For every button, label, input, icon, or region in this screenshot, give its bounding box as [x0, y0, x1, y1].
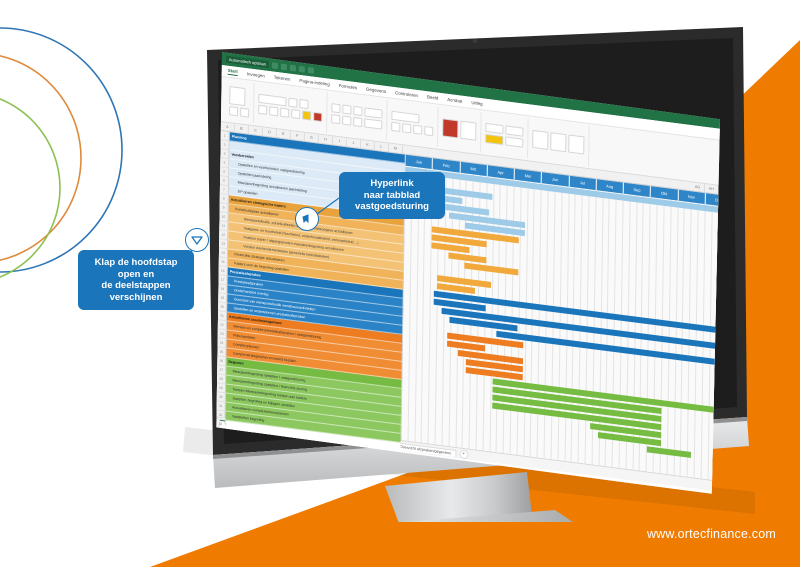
gantt-bar[interactable]: [647, 446, 691, 458]
ribbon-tab-acrobat[interactable]: Acrobat: [447, 97, 462, 104]
align-right-icon[interactable]: [353, 117, 362, 127]
callout-line: Klap de hoofdstap: [84, 257, 188, 269]
circle-orange: [0, 53, 81, 263]
gantt-bars-layer: [402, 166, 720, 482]
insert-cells-icon[interactable]: [532, 130, 548, 150]
monitor-screen: Automatisch opslaan StartInvoegenTekenen…: [214, 52, 720, 494]
format-cells-icon[interactable]: [568, 134, 584, 154]
ribbon-group-cellstyles: [481, 112, 529, 158]
percent-icon[interactable]: [402, 123, 411, 133]
excel-window: Automatisch opslaan StartInvoegenTekenen…: [216, 52, 720, 494]
style-waarschuwing[interactable]: [485, 134, 503, 145]
poster-canvas: Automatisch opslaan StartInvoegenTekenen…: [0, 0, 800, 567]
ribbon-group-clipboard: [225, 80, 255, 124]
conditional-format-icon[interactable]: [442, 118, 458, 138]
ribbon-group-alignment: [327, 93, 388, 141]
cursor-glyph: [301, 213, 313, 225]
ribbon-tab-tekenen[interactable]: Tekenen: [274, 75, 291, 82]
website-url[interactable]: www.ortecfinance.com: [647, 527, 776, 541]
callout-line: vastgoedsturing: [344, 201, 440, 213]
currency-icon[interactable]: [391, 122, 400, 132]
callout-line: Hyperlink: [344, 178, 440, 190]
merge-center-button[interactable]: [364, 118, 382, 129]
align-middle-icon[interactable]: [342, 105, 351, 115]
callout-hyperlink[interactable]: Hyperlink naar tabblad vastgoedsturing: [339, 172, 445, 219]
ribbon-tab-controleren[interactable]: Controleren: [395, 90, 418, 98]
font-size-box[interactable]: [288, 98, 297, 108]
callout-hoofdstap[interactable]: Klap de hoofdstap open en de deelstappen…: [78, 250, 194, 310]
arrow-marker-icon[interactable]: [185, 228, 209, 252]
task-label: JIP opstellen: [231, 189, 258, 196]
more-icon[interactable]: [308, 67, 314, 74]
cut-icon[interactable]: [229, 106, 238, 116]
save-icon[interactable]: [272, 62, 278, 69]
align-center-icon[interactable]: [342, 116, 351, 126]
ribbon-tab-start[interactable]: Start: [228, 68, 238, 76]
ribbon-group-cells: [528, 118, 590, 166]
style-goed[interactable]: [505, 136, 523, 147]
circle-blue: [0, 28, 122, 272]
gantt-bar[interactable]: [464, 262, 519, 275]
underline-icon[interactable]: [280, 108, 289, 118]
comma-icon[interactable]: [413, 125, 422, 135]
ribbon-group-font: [254, 83, 328, 132]
task-label: Prijsvaardelen: [229, 333, 256, 340]
callout-line: de deelstappen: [84, 280, 188, 292]
gantt-chart-area: JanFebMrtAprMeiJunJulAugSepOktNovDec: [402, 155, 720, 482]
touch-icon[interactable]: [299, 65, 305, 72]
delete-cells-icon[interactable]: [550, 132, 566, 152]
gantt-bar[interactable]: [448, 252, 486, 263]
font-color-icon[interactable]: [313, 112, 322, 122]
gantt-bar[interactable]: [496, 331, 720, 366]
ribbon-group-styles: [438, 107, 482, 153]
callout-line: naar tabblad: [344, 190, 440, 202]
style-standaard[interactable]: [505, 125, 523, 136]
ribbon-tab-beeld[interactable]: Beeld: [427, 94, 438, 100]
redo-icon[interactable]: [290, 64, 296, 71]
paste-icon[interactable]: [229, 86, 245, 106]
ribbon-tab-gegevens[interactable]: Gegevens: [366, 86, 386, 94]
bold-icon[interactable]: [258, 105, 267, 115]
increase-font-icon[interactable]: [299, 99, 308, 109]
style-neutraal[interactable]: [485, 123, 503, 134]
align-left-icon[interactable]: [331, 114, 340, 124]
borders-icon[interactable]: [291, 109, 300, 119]
fill-color-icon[interactable]: [302, 110, 311, 120]
ribbon-group-number: [387, 100, 439, 147]
undo-icon[interactable]: [281, 63, 287, 70]
italic-icon[interactable]: [269, 106, 278, 116]
link-marker-icon[interactable]: [295, 207, 319, 231]
task-label: Planning: [232, 134, 247, 140]
arrow-glyph: [191, 234, 203, 246]
circle-green: [0, 92, 60, 284]
callout-line: open en: [84, 269, 188, 281]
ribbon-tab-pagina-indeling[interactable]: Pagina-indeling: [299, 78, 329, 87]
wrap-text-button[interactable]: [364, 107, 382, 118]
task-label: Begroten: [228, 360, 243, 366]
format-as-table-icon[interactable]: [460, 121, 476, 141]
decimal-icon[interactable]: [424, 126, 433, 136]
add-sheet-button[interactable]: +: [459, 449, 468, 459]
align-top-icon[interactable]: [331, 103, 340, 113]
callout-line: verschijnen: [84, 292, 188, 304]
align-bottom-icon[interactable]: [353, 106, 362, 116]
webcam-dot: [473, 39, 477, 43]
ribbon-tab-formules[interactable]: Formules: [339, 83, 357, 90]
copy-icon[interactable]: [240, 107, 249, 117]
ribbon-tab-uitleg[interactable]: Uitleg: [471, 100, 482, 106]
ribbon-tab-invoegen[interactable]: Invoegen: [247, 71, 265, 78]
task-label: Voorbereiden: [231, 152, 253, 159]
